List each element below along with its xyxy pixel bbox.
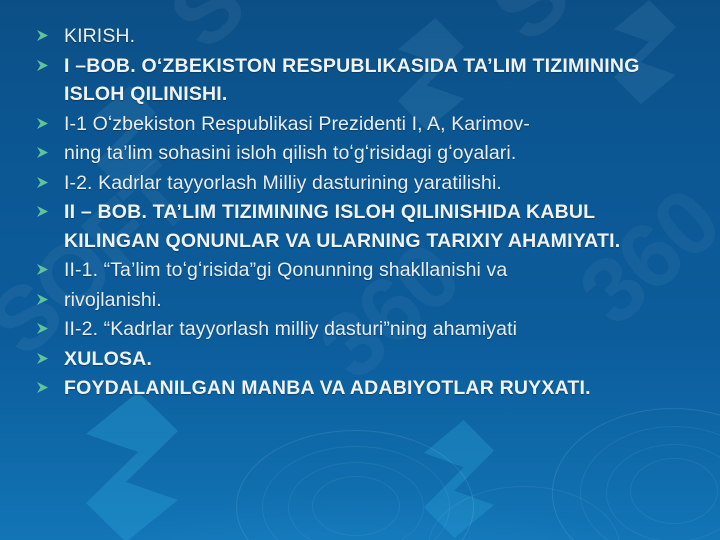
bullet-item-label: II-2. “Kadrlar tayyorlash milliy dasturi…	[64, 315, 696, 344]
ripple-ring	[606, 444, 720, 540]
bullet-item: I –BOB. OʻZBEKISTON RESPUBLIKASIDA TA’LI…	[36, 52, 696, 109]
chevron-arrow-bullet-icon	[36, 169, 64, 189]
presentation-slide: SOFT SOFT SOFT 360 360	[0, 0, 720, 540]
chevron-arrow-bullet-icon	[36, 110, 64, 130]
chevron-arrow-bullet-icon	[36, 52, 64, 72]
bullet-item: XULOSA.	[36, 345, 696, 374]
bullet-item-label: I-1 Oʻzbekiston Respublikasi Prezidenti …	[64, 110, 696, 139]
chevron-arrow-bullet-icon	[36, 198, 64, 218]
ripple-ring	[236, 430, 474, 540]
chevron-arrow-bullet-icon	[36, 139, 64, 159]
chevron-arrow-bullet-icon	[36, 286, 64, 306]
chevron-arrow-bullet-icon	[36, 374, 64, 394]
bullet-item: I-1 Oʻzbekiston Respublikasi Prezidenti …	[36, 110, 696, 139]
bullet-item: rivojlanishi.	[36, 286, 696, 315]
slide-content: KIRISH.I –BOB. OʻZBEKISTON RESPUBLIKASID…	[0, 0, 720, 404]
bullet-item: ning ta’lim sohasini isloh qilish toʻgʻr…	[36, 139, 696, 168]
ripple-ring	[288, 462, 424, 540]
ripple-ring	[312, 476, 400, 536]
bullet-item-label: XULOSA.	[64, 345, 696, 374]
chevron-arrow-bullet-icon	[36, 345, 64, 365]
ripple-ring	[428, 486, 620, 540]
ripple-ring	[552, 408, 720, 540]
bullet-item-label: II-1. “Ta’lim toʻgʻrisida”gi Qonunning s…	[64, 256, 696, 285]
bullet-item-label: II – BOB. TA’LIM TIZIMINING ISLOH QILINI…	[64, 198, 696, 255]
bullet-item: II-2. “Kadrlar tayyorlash milliy dasturi…	[36, 315, 696, 344]
bolt-logo-icon	[424, 420, 494, 538]
chevron-arrow-bullet-icon	[36, 22, 64, 42]
bullet-list: KIRISH.I –BOB. OʻZBEKISTON RESPUBLIKASID…	[36, 22, 696, 403]
chevron-arrow-bullet-icon	[36, 256, 64, 276]
bullet-item: FOYDALANILGAN MANBA VA ADABIYOTLAR RUYXA…	[36, 374, 696, 403]
chevron-arrow-bullet-icon	[36, 315, 64, 335]
bullet-item-label: rivojlanishi.	[64, 286, 696, 315]
ripple-ring	[580, 426, 720, 540]
bullet-item-label: I –BOB. OʻZBEKISTON RESPUBLIKASIDA TA’LI…	[64, 52, 696, 109]
bullet-item-label: KIRISH.	[64, 22, 696, 51]
bullet-item-label: ning ta’lim sohasini isloh qilish toʻgʻr…	[64, 139, 696, 168]
bullet-item: II – BOB. TA’LIM TIZIMINING ISLOH QILINI…	[36, 198, 696, 255]
bullet-item: KIRISH.	[36, 22, 696, 51]
bolt-logo-icon	[86, 392, 178, 540]
ripple-ring	[630, 458, 718, 524]
bullet-item-label: FOYDALANILGAN MANBA VA ADABIYOTLAR RUYXA…	[64, 374, 696, 403]
bullet-item: I-2. Kadrlar tayyorlash Milliy dasturini…	[36, 169, 696, 198]
bullet-item-label: I-2. Kadrlar tayyorlash Milliy dasturini…	[64, 169, 696, 198]
bullet-item: II-1. “Ta’lim toʻgʻrisida”gi Qonunning s…	[36, 256, 696, 285]
ripple-ring	[262, 446, 450, 540]
